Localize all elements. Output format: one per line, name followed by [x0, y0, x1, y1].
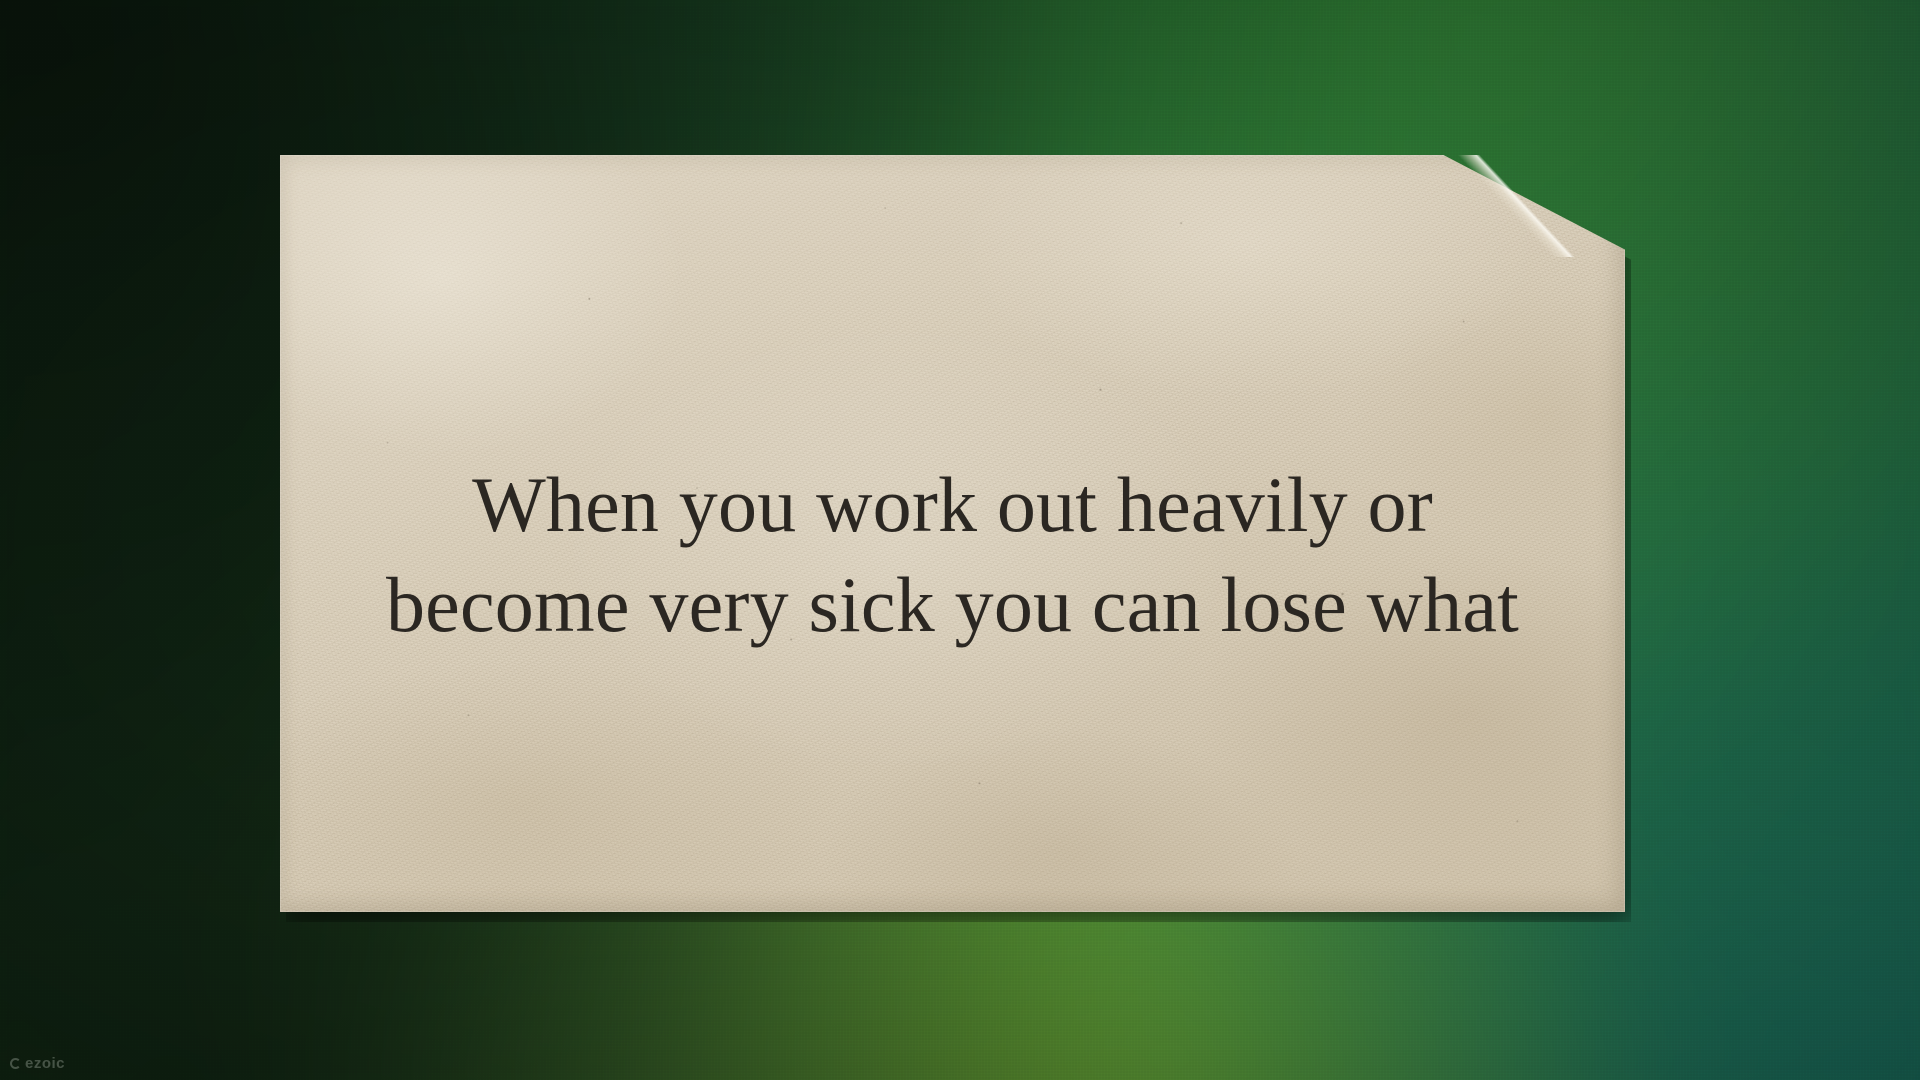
quote-line-1: When you work out heavily or: [320, 465, 1585, 545]
quote-line-2: become very sick you can lose what: [320, 565, 1585, 645]
slide-stage: When you work out heavily or become very…: [0, 0, 1920, 1080]
card-surface: When you work out heavily or become very…: [280, 155, 1625, 912]
quote-text: When you work out heavily or become very…: [320, 465, 1585, 646]
quote-card: When you work out heavily or become very…: [280, 155, 1625, 912]
